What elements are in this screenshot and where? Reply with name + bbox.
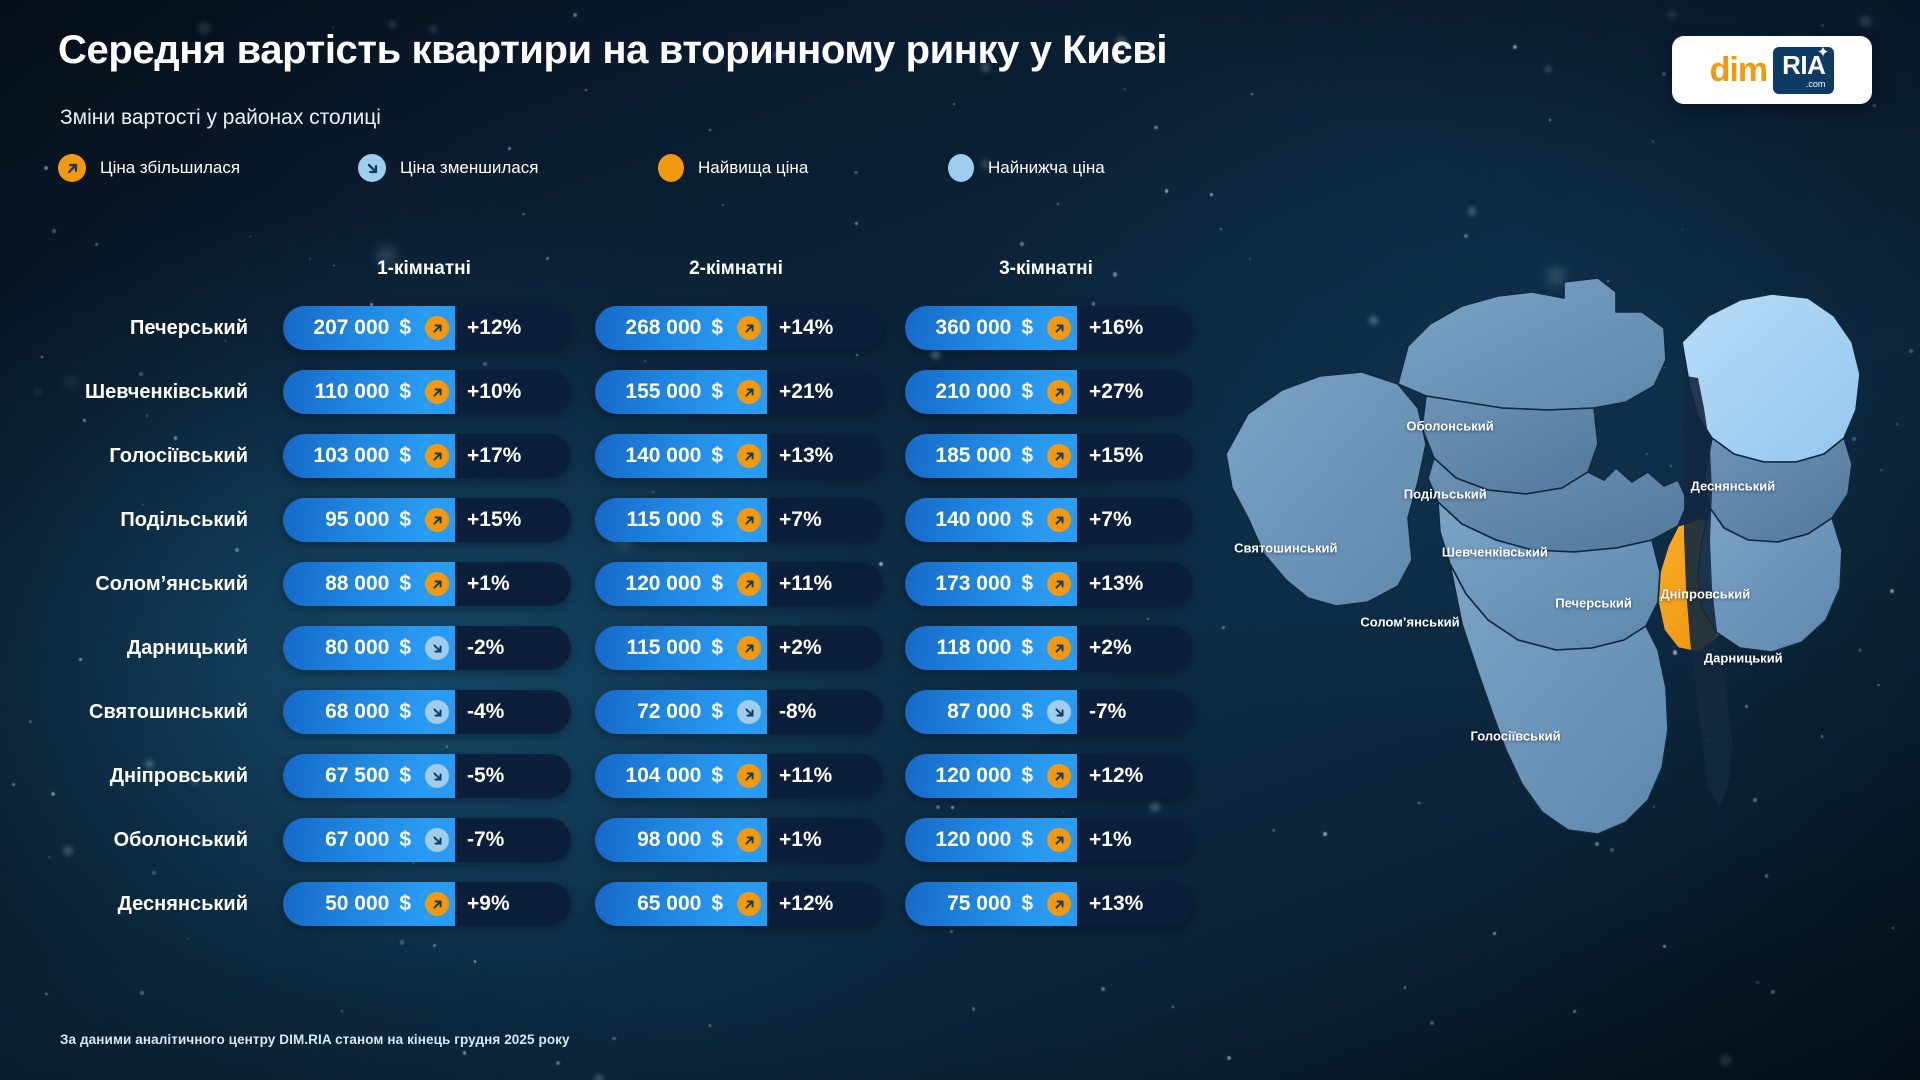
price-pill[interactable]: 185 000$+15%: [905, 434, 1193, 478]
arrow-up-right-icon: [737, 828, 761, 852]
arrow-up-right-icon: [737, 508, 761, 532]
price-pill[interactable]: 268 000$+14%: [595, 306, 883, 350]
arrow-up-right-icon: [737, 892, 761, 916]
trend-indicator: [733, 818, 767, 862]
price-value: 95 000$: [283, 498, 421, 542]
price-value: 115 000$: [595, 498, 733, 542]
trend-indicator: [421, 690, 455, 734]
arrow-up-right-icon: [1047, 508, 1071, 532]
percent-change: +27%: [1077, 370, 1193, 414]
row-label-district: Шевченківський: [0, 360, 270, 424]
price-amount: 268 000: [625, 316, 701, 340]
price-value: 140 000$: [595, 434, 733, 478]
percent-change: +15%: [1077, 434, 1193, 478]
price-value: 67 000$: [283, 818, 421, 862]
percent-change: +17%: [455, 434, 571, 478]
price-value: 120 000$: [595, 562, 733, 606]
footer-note: За даними аналітичного центру DIM.RIA ст…: [60, 1032, 570, 1047]
price-amount: 67 000: [325, 828, 389, 852]
legend-label: Найвища ціна: [698, 158, 808, 178]
dimria-logo[interactable]: dim ✦ RIA .com: [1672, 36, 1872, 104]
map-label: Печерський: [1555, 596, 1632, 611]
arrow-up-right-icon: [425, 316, 449, 340]
currency-symbol: $: [1021, 572, 1033, 596]
trend-indicator: [421, 434, 455, 478]
percent-change: +13%: [1077, 562, 1193, 606]
price-pill[interactable]: 118 000$+2%: [905, 626, 1193, 670]
map-label: Подільський: [1404, 487, 1487, 502]
trend-indicator: [1043, 882, 1077, 926]
trend-indicator: [421, 882, 455, 926]
legend-item-3: Найвища ціна: [658, 154, 808, 182]
currency-symbol: $: [399, 508, 411, 532]
trend-indicator: [421, 562, 455, 606]
percent-change: +16%: [1077, 306, 1193, 350]
circle-icon: [658, 154, 684, 182]
price-value: 173 000$: [905, 562, 1043, 606]
price-pill[interactable]: 98 000$+1%: [595, 818, 883, 862]
column-header-1: 1-кімнатні: [324, 258, 524, 280]
price-amount: 173 000: [935, 572, 1011, 596]
trend-indicator: [733, 306, 767, 350]
price-value: 140 000$: [905, 498, 1043, 542]
price-pill[interactable]: 68 000$-4%: [283, 690, 571, 734]
currency-symbol: $: [711, 700, 723, 724]
row-label-district: Печерський: [0, 296, 270, 360]
arrow-up-right-icon: [425, 380, 449, 404]
percent-change: +10%: [455, 370, 571, 414]
row-label-district: Деснянський: [0, 872, 270, 936]
price-value: 88 000$: [283, 562, 421, 606]
row-label-district: Солом’янський: [0, 552, 270, 616]
currency-symbol: $: [1021, 508, 1033, 532]
currency-symbol: $: [1021, 636, 1033, 660]
price-value: 75 000$: [905, 882, 1043, 926]
arrow-up-right-icon: [737, 764, 761, 788]
column-header-3: 3-кімнатні: [946, 258, 1146, 280]
map-label: Шевченківський: [1442, 545, 1548, 560]
price-amount: 155 000: [625, 380, 701, 404]
arrow-up-right-icon: [1047, 572, 1071, 596]
price-value: 155 000$: [595, 370, 733, 414]
price-amount: 120 000: [935, 828, 1011, 852]
percent-change: +7%: [1077, 498, 1193, 542]
price-amount: 68 000: [325, 700, 389, 724]
price-value: 98 000$: [595, 818, 733, 862]
arrow-down-right-icon: [425, 828, 449, 852]
arrow-up-right-icon: [1047, 380, 1071, 404]
price-amount: 360 000: [935, 316, 1011, 340]
map-label: Дарницький: [1704, 651, 1783, 666]
price-pill[interactable]: 173 000$+13%: [905, 562, 1193, 606]
percent-change: +2%: [767, 626, 883, 670]
percent-change: +11%: [767, 754, 883, 798]
trend-indicator: [733, 498, 767, 542]
price-pill[interactable]: 65 000$+12%: [595, 882, 883, 926]
price-amount: 75 000: [947, 892, 1011, 916]
trend-indicator: [1043, 626, 1077, 670]
price-value: 120 000$: [905, 754, 1043, 798]
arrow-up-right-icon: [1047, 764, 1071, 788]
arrow-down-right-icon: [358, 154, 386, 182]
trend-indicator: [733, 434, 767, 478]
star-icon: ✦: [1817, 45, 1830, 60]
price-amount: 120 000: [625, 572, 701, 596]
row-label-district: Дніпровський: [0, 744, 270, 808]
legend-label: Ціна збільшилася: [100, 158, 240, 178]
arrow-down-right-icon: [425, 764, 449, 788]
arrow-up-right-icon: [1047, 828, 1071, 852]
price-pill[interactable]: 115 000$+2%: [595, 626, 883, 670]
trend-indicator: [1043, 434, 1077, 478]
price-pill[interactable]: 140 000$+13%: [595, 434, 883, 478]
price-amount: 207 000: [313, 316, 389, 340]
price-value: 110 000$: [283, 370, 421, 414]
currency-symbol: $: [399, 572, 411, 596]
row-label-district: Оболонський: [0, 808, 270, 872]
trend-indicator: [1043, 498, 1077, 542]
arrow-down-right-icon: [425, 700, 449, 724]
percent-change: +14%: [767, 306, 883, 350]
row-label-district: Подільський: [0, 488, 270, 552]
percent-change: +7%: [767, 498, 883, 542]
currency-symbol: $: [399, 892, 411, 916]
arrow-up-right-icon: [1047, 636, 1071, 660]
price-pill[interactable]: 104 000$+11%: [595, 754, 883, 798]
price-value: 72 000$: [595, 690, 733, 734]
percent-change: +11%: [767, 562, 883, 606]
price-value: 210 000$: [905, 370, 1043, 414]
currency-symbol: $: [1021, 764, 1033, 788]
price-pill[interactable]: 210 000$+27%: [905, 370, 1193, 414]
map-label: Солом’янський: [1360, 615, 1459, 630]
percent-change: -4%: [455, 690, 571, 734]
percent-change: +12%: [767, 882, 883, 926]
page-subtitle: Зміни вартості у районах столиці: [60, 106, 381, 130]
currency-symbol: $: [1021, 828, 1033, 852]
price-amount: 103 000: [313, 444, 389, 468]
price-amount: 88 000: [325, 572, 389, 596]
trend-indicator: [1043, 690, 1077, 734]
trend-indicator: [421, 818, 455, 862]
price-pill[interactable]: 88 000$+1%: [283, 562, 571, 606]
currency-symbol: $: [1021, 892, 1033, 916]
price-pill[interactable]: 110 000$+10%: [283, 370, 571, 414]
price-amount: 95 000: [325, 508, 389, 532]
price-value: 65 000$: [595, 882, 733, 926]
trend-indicator: [733, 754, 767, 798]
price-amount: 120 000: [935, 764, 1011, 788]
price-value: 87 000$: [905, 690, 1043, 734]
page-title: Середня вартість квартири на вторинному …: [58, 28, 1167, 73]
currency-symbol: $: [711, 572, 723, 596]
legend-item-4: Найнижча ціна: [948, 154, 1105, 182]
price-amount: 210 000: [935, 380, 1011, 404]
map-label: Дніпровський: [1660, 587, 1750, 602]
kyiv-districts-map: ОболонськийПодільськийСвятошинськийШевче…: [1212, 268, 1902, 908]
currency-symbol: $: [711, 828, 723, 852]
price-amount: 80 000: [325, 636, 389, 660]
currency-symbol: $: [711, 380, 723, 404]
price-amount: 140 000: [625, 444, 701, 468]
price-pill[interactable]: 120 000$+1%: [905, 818, 1193, 862]
price-value: 68 000$: [283, 690, 421, 734]
price-pill[interactable]: 155 000$+21%: [595, 370, 883, 414]
percent-change: +13%: [767, 434, 883, 478]
trend-indicator: [733, 690, 767, 734]
price-value: 120 000$: [905, 818, 1043, 862]
percent-change: +9%: [455, 882, 571, 926]
arrow-up-right-icon: [1047, 892, 1071, 916]
infographic-page: Середня вартість квартири на вторинному …: [0, 0, 1920, 1080]
trend-indicator: [1043, 818, 1077, 862]
currency-symbol: $: [711, 636, 723, 660]
price-amount: 115 000: [627, 636, 702, 660]
currency-symbol: $: [399, 380, 411, 404]
price-amount: 50 000: [325, 892, 389, 916]
currency-symbol: $: [399, 316, 411, 340]
price-amount: 110 000: [315, 380, 390, 404]
price-pill[interactable]: 72 000$-8%: [595, 690, 883, 734]
price-pill[interactable]: 67 500$-5%: [283, 754, 571, 798]
percent-change: +1%: [455, 562, 571, 606]
price-value: 67 500$: [283, 754, 421, 798]
legend-label: Ціна зменшилася: [400, 158, 538, 178]
price-pill[interactable]: 115 000$+7%: [595, 498, 883, 542]
arrow-up-right-icon: [1047, 316, 1071, 340]
percent-change: +12%: [1077, 754, 1193, 798]
price-pill[interactable]: 95 000$+15%: [283, 498, 571, 542]
price-pill[interactable]: 80 000$-2%: [283, 626, 571, 670]
map-svg: [1212, 268, 1902, 908]
trend-indicator: [421, 498, 455, 542]
arrow-down-right-icon: [425, 636, 449, 660]
arrow-up-right-icon: [737, 316, 761, 340]
arrow-down-right-icon: [737, 700, 761, 724]
trend-indicator: [1043, 562, 1077, 606]
price-value: 118 000$: [905, 626, 1043, 670]
map-region-obolonskyi: [1398, 278, 1666, 410]
arrow-up-right-icon: [425, 444, 449, 468]
trend-indicator: [1043, 306, 1077, 350]
trend-indicator: [733, 882, 767, 926]
arrow-up-right-icon: [58, 154, 86, 182]
arrow-up-right-icon: [425, 508, 449, 532]
currency-symbol: $: [1021, 380, 1033, 404]
percent-change: +1%: [767, 818, 883, 862]
trend-indicator: [421, 754, 455, 798]
trend-indicator: [733, 562, 767, 606]
currency-symbol: $: [1021, 316, 1033, 340]
arrow-up-right-icon: [425, 572, 449, 596]
currency-symbol: $: [711, 316, 723, 340]
price-amount: 118 000: [937, 636, 1012, 660]
percent-change: +12%: [455, 306, 571, 350]
trend-indicator: [733, 370, 767, 414]
price-pill[interactable]: 67 000$-7%: [283, 818, 571, 862]
column-header-2: 2-кімнатні: [636, 258, 836, 280]
currency-symbol: $: [399, 636, 411, 660]
map-label: Святошинський: [1234, 540, 1337, 555]
price-amount: 185 000: [935, 444, 1011, 468]
price-pill[interactable]: 360 000$+16%: [905, 306, 1193, 350]
price-pill[interactable]: 75 000$+13%: [905, 882, 1193, 926]
arrow-up-right-icon: [425, 892, 449, 916]
map-region-desnianskyi: [1682, 294, 1860, 462]
trend-indicator: [421, 626, 455, 670]
arrow-up-right-icon: [737, 636, 761, 660]
arrow-up-right-icon: [737, 444, 761, 468]
price-value: 104 000$: [595, 754, 733, 798]
circle-icon: [948, 154, 974, 182]
row-label-district: Святошинський: [0, 680, 270, 744]
legend-item-2: Ціна зменшилася: [358, 154, 538, 182]
price-value: 268 000$: [595, 306, 733, 350]
trend-indicator: [1043, 370, 1077, 414]
price-amount: 140 000: [935, 508, 1011, 532]
trend-indicator: [733, 626, 767, 670]
price-pill[interactable]: 120 000$+12%: [905, 754, 1193, 798]
price-value: 207 000$: [283, 306, 421, 350]
price-value: 360 000$: [905, 306, 1043, 350]
price-pill[interactable]: 207 000$+12%: [283, 306, 571, 350]
percent-change: +13%: [1077, 882, 1193, 926]
currency-symbol: $: [399, 444, 411, 468]
price-value: 185 000$: [905, 434, 1043, 478]
map-label: Голосіївський: [1471, 729, 1561, 744]
arrow-up-right-icon: [737, 572, 761, 596]
trend-indicator: [421, 370, 455, 414]
logo-com-text: .com: [1806, 80, 1826, 89]
price-pill[interactable]: 140 000$+7%: [905, 498, 1193, 542]
price-value: 103 000$: [283, 434, 421, 478]
currency-symbol: $: [399, 764, 411, 788]
price-amount: 115 000: [627, 508, 702, 532]
logo-dim-text: dim: [1710, 53, 1767, 87]
price-pill[interactable]: 87 000$-7%: [905, 690, 1193, 734]
currency-symbol: $: [711, 508, 723, 532]
price-amount: 87 000: [947, 700, 1011, 724]
price-pill[interactable]: 120 000$+11%: [595, 562, 883, 606]
trend-indicator: [421, 306, 455, 350]
map-label: Деснянський: [1691, 478, 1776, 493]
price-amount: 104 000: [625, 764, 701, 788]
arrow-up-right-icon: [1047, 444, 1071, 468]
percent-change: +2%: [1077, 626, 1193, 670]
percent-change: +15%: [455, 498, 571, 542]
arrow-down-right-icon: [1047, 700, 1071, 724]
row-label-district: Голосіївський: [0, 424, 270, 488]
percent-change: -5%: [455, 754, 571, 798]
trend-indicator: [1043, 754, 1077, 798]
price-pill[interactable]: 50 000$+9%: [283, 882, 571, 926]
percent-change: -2%: [455, 626, 571, 670]
row-label-district: Дарницький: [0, 616, 270, 680]
currency-symbol: $: [1021, 700, 1033, 724]
percent-change: +1%: [1077, 818, 1193, 862]
price-amount: 65 000: [637, 892, 701, 916]
price-value: 115 000$: [595, 626, 733, 670]
currency-symbol: $: [711, 444, 723, 468]
price-value: 50 000$: [283, 882, 421, 926]
currency-symbol: $: [711, 764, 723, 788]
map-region-sviatoshynskyi: [1226, 372, 1426, 606]
price-amount: 67 500: [325, 764, 389, 788]
price-pill[interactable]: 103 000$+17%: [283, 434, 571, 478]
map-label: Оболонський: [1406, 419, 1493, 434]
price-amount: 98 000: [637, 828, 701, 852]
currency-symbol: $: [711, 892, 723, 916]
currency-symbol: $: [399, 700, 411, 724]
logo-ria-box: ✦ RIA .com: [1773, 47, 1834, 94]
percent-change: -7%: [1077, 690, 1193, 734]
legend-item-1: Ціна збільшилася: [58, 154, 240, 182]
currency-symbol: $: [1021, 444, 1033, 468]
arrow-up-right-icon: [737, 380, 761, 404]
price-amount: 72 000: [637, 700, 701, 724]
currency-symbol: $: [399, 828, 411, 852]
percent-change: -7%: [455, 818, 571, 862]
percent-change: -8%: [767, 690, 883, 734]
legend-label: Найнижча ціна: [988, 158, 1105, 178]
price-value: 80 000$: [283, 626, 421, 670]
percent-change: +21%: [767, 370, 883, 414]
